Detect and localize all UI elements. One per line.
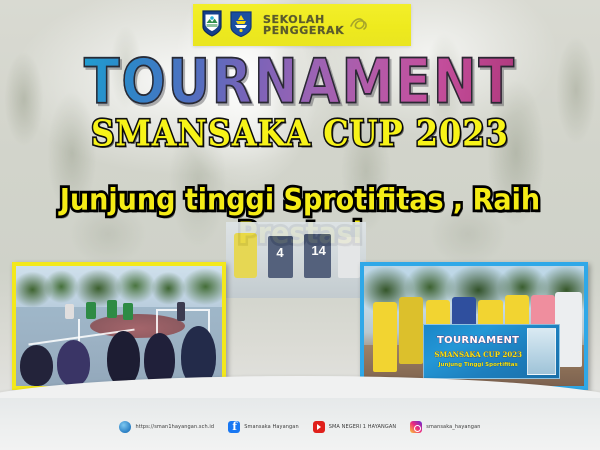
program-line-2: PENGGERAK: [263, 25, 344, 36]
subtitle-cup-name: SMANSAKA CUP 2023: [0, 112, 600, 155]
court-player-green-2: [107, 300, 117, 318]
penggerak-swirl-icon: [347, 13, 369, 38]
mini-banner-cup: SMANSAKA CUP 2023: [430, 350, 527, 359]
sekolah-penggerak-logo: SEKOLAH PENGGERAK: [263, 13, 369, 38]
spectator-1: [20, 345, 53, 386]
jersey-number-4: 4: [276, 245, 283, 260]
photo-left-court: [12, 262, 226, 390]
facebook-label: Smansaka Hayangan: [244, 424, 299, 430]
youtube-icon: [313, 421, 325, 433]
mini-banner-title: TOURNAMENT: [430, 335, 527, 346]
facebook-icon: [228, 421, 240, 433]
court-treeline: [16, 266, 222, 309]
team-player-1: [373, 302, 397, 372]
footer-social-bar: https://sman1hayangan.sch.id Smansaka Ha…: [0, 398, 600, 450]
website-label: https://sman1hayangan.sch.id: [135, 424, 214, 430]
mini-banner-slogan: Junjung Tinggi Sportifitas: [430, 362, 527, 368]
footer-item-website[interactable]: https://sman1hayangan.sch.id: [119, 421, 214, 433]
player-white-shirt: [338, 237, 360, 278]
website-icon: [119, 421, 131, 433]
tut-wuri-handayani-logo-icon: [229, 9, 253, 42]
player-yellow-shirt: [234, 233, 256, 279]
court-player-green-3: [123, 303, 133, 320]
footer-item-instagram[interactable]: smansaka_hayangan: [410, 421, 480, 433]
jersey-number-14: 14: [311, 243, 325, 258]
footer-item-facebook[interactable]: Smansaka Hayangan: [228, 421, 299, 433]
page-title-tournament: TOURNAMENT: [0, 52, 600, 113]
team-photo-banner: TOURNAMENT SMANSAKA CUP 2023 Junjung Tin…: [423, 324, 559, 379]
court-player-dark: [177, 302, 185, 321]
instagram-label: smansaka_hayangan: [426, 424, 480, 430]
team-player-2: [399, 297, 423, 364]
tournament-poster: SEKOLAH PENGGERAK TOURNAMENT SMANSAKA CU…: [0, 0, 600, 450]
spectator-2: [57, 340, 90, 386]
photo-center-players: 4 14: [226, 222, 366, 298]
instagram-icon: [410, 421, 422, 433]
footer-item-youtube[interactable]: SMA NEGERI 1 HAYANGAN: [313, 421, 397, 433]
court-player-white: [65, 304, 73, 318]
kabupaten-emblem-icon: [201, 9, 223, 42]
photo-right-team: TOURNAMENT SMANSAKA CUP 2023 Junjung Tin…: [360, 262, 588, 390]
spectator-3: [107, 331, 140, 386]
mini-banner-portrait: [527, 328, 557, 375]
top-yellow-banner: SEKOLAH PENGGERAK: [193, 4, 411, 46]
youtube-label: SMA NEGERI 1 HAYANGAN: [329, 424, 397, 430]
court-player-green-1: [86, 302, 96, 319]
